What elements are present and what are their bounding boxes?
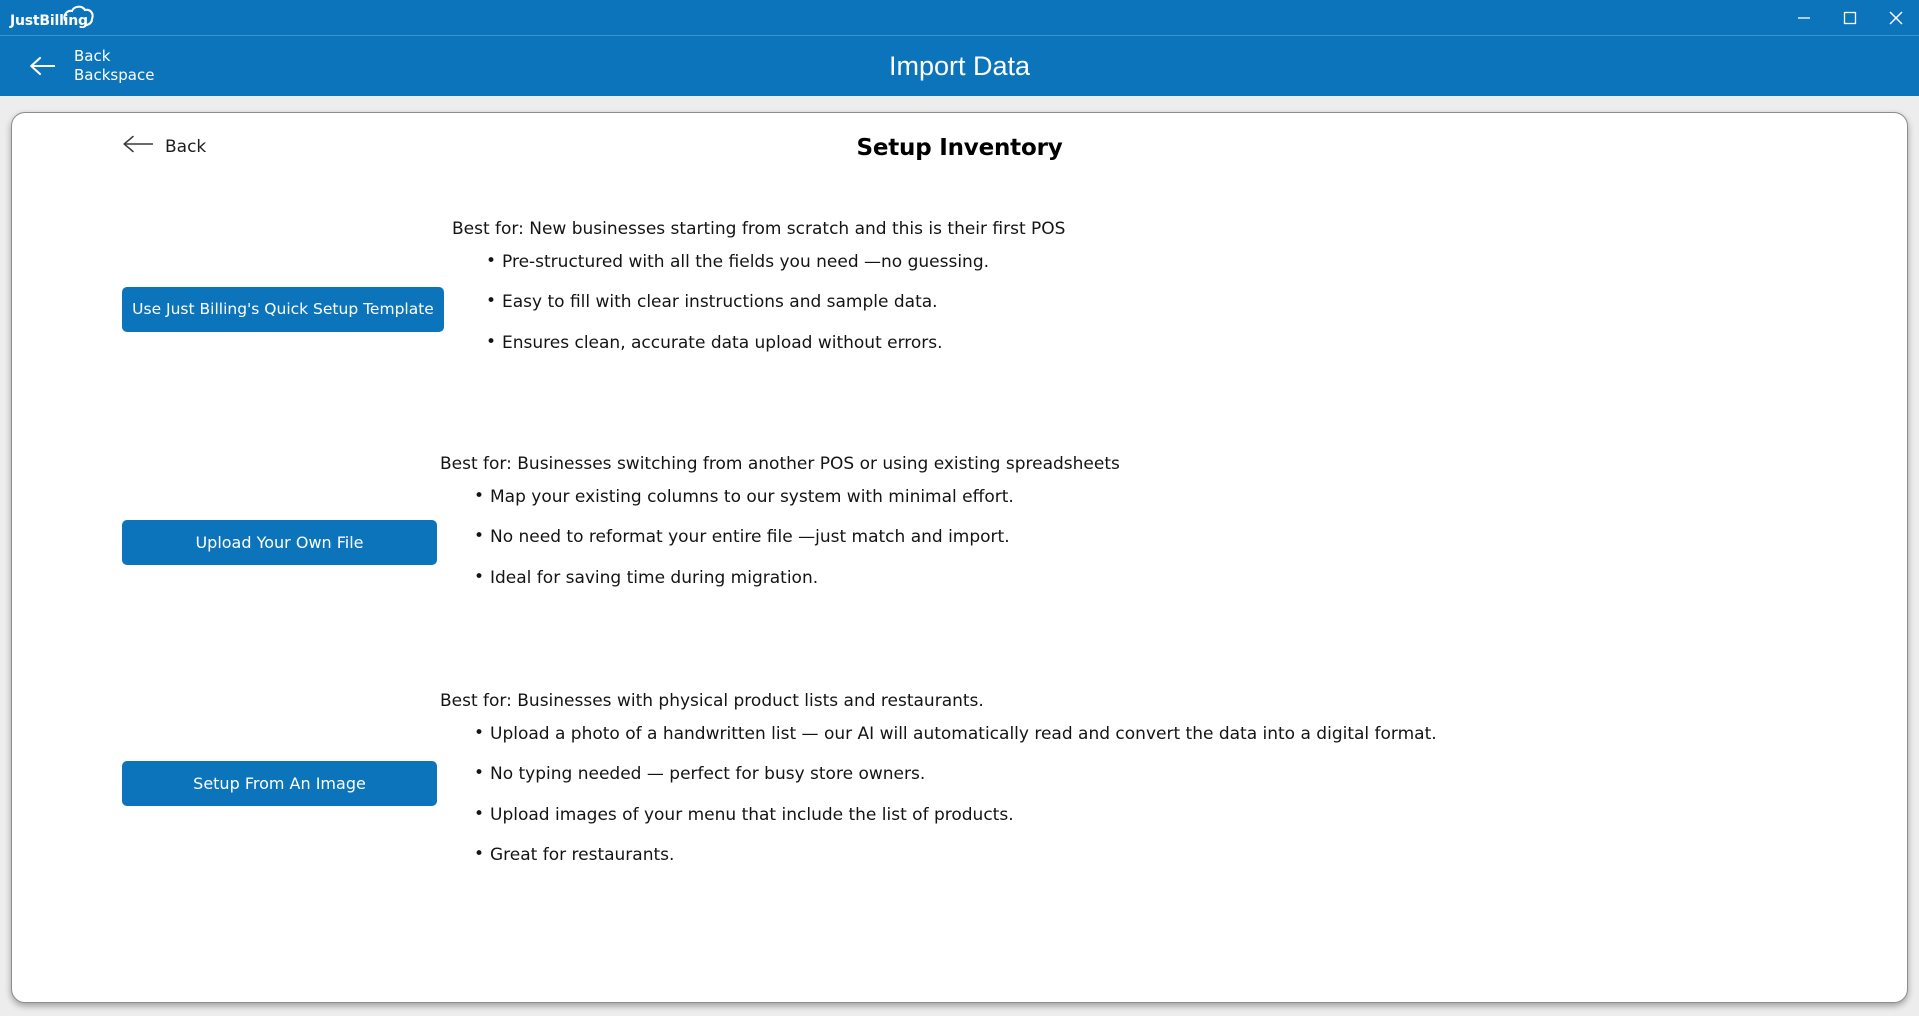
setup-option-from-image: Setup From An Image Best for: Businesses… xyxy=(12,681,1907,886)
setup-option-upload-file: Upload Your Own File Best for: Businesse… xyxy=(12,444,1907,640)
list-item: Ideal for saving time during migration. xyxy=(452,568,1907,588)
benefit-list: Map your existing columns to our system … xyxy=(452,487,1907,588)
setup-option-description: Best for: New businesses starting from s… xyxy=(452,211,1907,407)
window-controls xyxy=(1781,0,1919,36)
setup-options-list: Use Just Billing's Quick Setup Template … xyxy=(12,191,1907,886)
app-logo: JustBilling xyxy=(10,5,88,31)
setup-option-button-column: Upload Your Own File xyxy=(12,444,452,640)
list-item: Upload a photo of a handwritten list — o… xyxy=(452,724,1907,744)
list-item: Ensures clean, accurate data upload with… xyxy=(452,333,1907,353)
maximize-icon xyxy=(1843,11,1857,25)
setup-option-description: Best for: Businesses switching from anot… xyxy=(452,444,1907,640)
window-titlebar: JustBilling xyxy=(0,0,1919,36)
benefit-list: Pre-structured with all the fields you n… xyxy=(452,252,1907,353)
setup-option-button-column: Setup From An Image xyxy=(12,681,452,886)
setup-option-quick-template: Use Just Billing's Quick Setup Template … xyxy=(12,211,1907,407)
best-for-text: Best for: Businesses with physical produ… xyxy=(440,691,1907,711)
list-item: Upload images of your menu that include … xyxy=(452,805,1907,825)
best-for-text: Best for: New businesses starting from s… xyxy=(452,219,1907,239)
list-item: No typing needed — perfect for busy stor… xyxy=(452,764,1907,784)
list-item: Map your existing columns to our system … xyxy=(452,487,1907,507)
maximize-button[interactable] xyxy=(1827,0,1873,36)
best-for-text: Best for: Businesses switching from anot… xyxy=(440,454,1907,474)
app-logo-text: JustBilling xyxy=(10,14,88,31)
page-title: Import Data xyxy=(0,36,1919,96)
minimize-button[interactable] xyxy=(1781,0,1827,36)
minimize-icon xyxy=(1797,11,1811,25)
list-item: Great for restaurants. xyxy=(452,845,1907,865)
setup-option-button-column: Use Just Billing's Quick Setup Template xyxy=(12,211,452,407)
list-item: Pre-structured with all the fields you n… xyxy=(452,252,1907,272)
benefit-list: Upload a photo of a handwritten list — o… xyxy=(452,724,1907,866)
close-button[interactable] xyxy=(1873,0,1919,36)
content-title: Setup Inventory xyxy=(12,135,1907,161)
use-quick-setup-template-button[interactable]: Use Just Billing's Quick Setup Template xyxy=(122,287,444,332)
list-item: Easy to fill with clear instructions and… xyxy=(452,292,1907,312)
list-item: No need to reformat your entire file —ju… xyxy=(452,527,1907,547)
content-card: Back Setup Inventory Use Just Billing's … xyxy=(11,112,1908,1003)
setup-option-description: Best for: Businesses with physical produ… xyxy=(452,681,1907,886)
upload-your-own-file-button[interactable]: Upload Your Own File xyxy=(122,520,437,565)
setup-from-an-image-button[interactable]: Setup From An Image xyxy=(122,761,437,806)
app-header: Back Backspace Import Data xyxy=(0,36,1919,96)
close-icon xyxy=(1888,10,1904,26)
card-topbar: Back Setup Inventory xyxy=(12,113,1907,191)
